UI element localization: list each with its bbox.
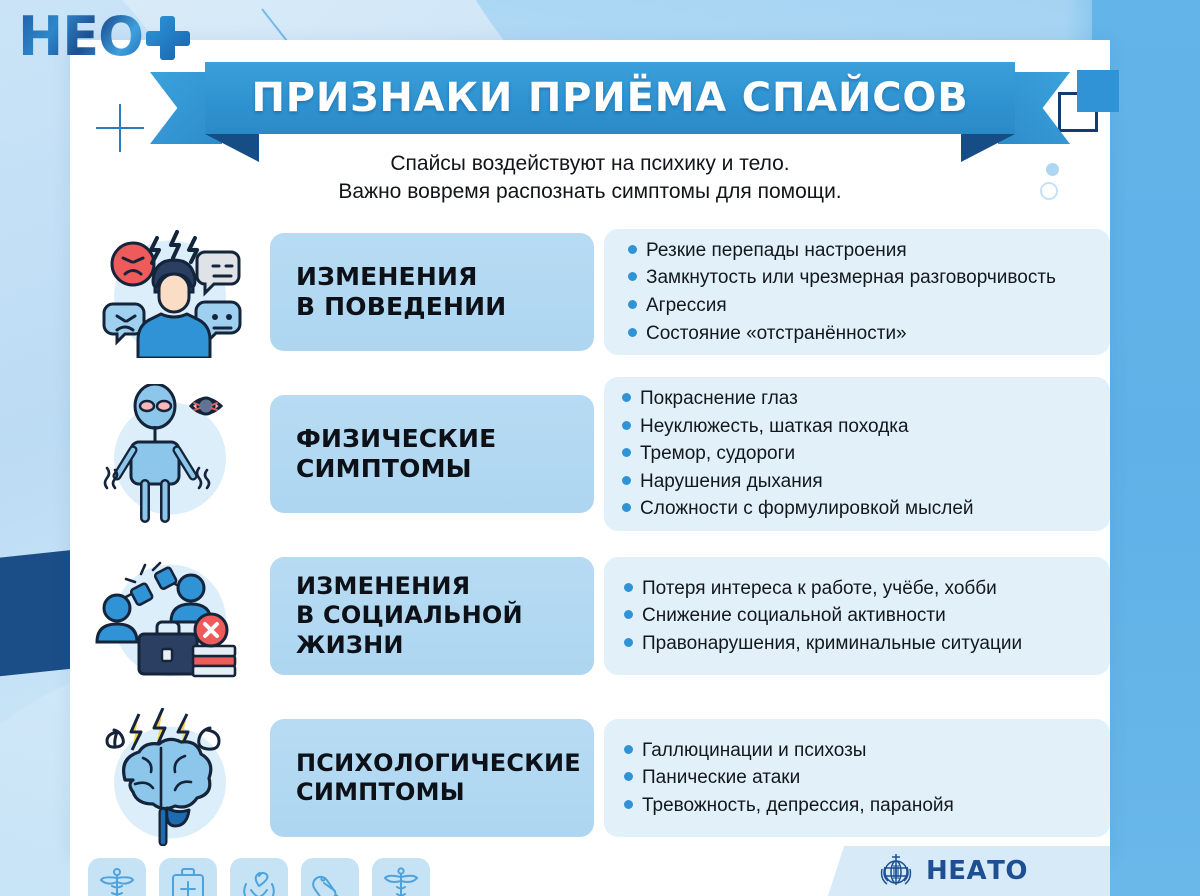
page-title: ПРИЗНАКИ ПРИЁМА СПАЙСОВ	[251, 75, 968, 121]
bullet-text: Потеря интереса к работе, учёбе, хобби	[642, 575, 997, 603]
broken-social-link-briefcase-books-icon	[70, 540, 270, 692]
bullet-dot-icon	[624, 638, 633, 647]
bullet-dot-icon	[628, 300, 637, 309]
bullet-item: Галлюцинации и психозы	[624, 737, 1096, 765]
heart-in-hands-icon	[230, 858, 288, 896]
bullet-dot-icon	[628, 245, 637, 254]
bullet-dot-icon	[624, 745, 633, 754]
bullet-item: Резкие перепады настроения	[628, 237, 1096, 265]
bullet-dot-icon	[628, 272, 637, 281]
bullet-item: Покраснение глаз	[622, 385, 1096, 413]
section-label-box: ИЗМЕНЕНИЯ В СОЦИАЛЬНОЙ ЖИЗНИ	[270, 557, 594, 675]
bullet-dot-icon	[624, 583, 633, 592]
section-bullets: Галлюцинации и психозы Панические атаки …	[604, 719, 1110, 837]
bullet-text: Правонарушения, криминальные ситуации	[642, 630, 1022, 658]
plus-icon	[142, 16, 196, 60]
brand-logo-text: HEO	[18, 10, 143, 64]
section-label-box: ПСИХОЛОГИЧЕСКИЕ СИМПТОМЫ	[270, 719, 594, 837]
first-aid-kit-icon	[159, 858, 217, 896]
bullet-text: Панические атаки	[642, 764, 800, 792]
who-name-label: НЕАТО	[926, 856, 1028, 886]
section-row: ИЗМЕНЕНИЯ В СОЦИАЛЬНОЙ ЖИЗНИ Потеря инте…	[70, 540, 1110, 692]
bullet-dot-icon	[628, 328, 637, 337]
bullet-text: Резкие перепады настроения	[646, 237, 907, 265]
bullet-dot-icon	[622, 503, 631, 512]
section-label-box: ФИЗИЧЕСКИЕ СИМПТОМЫ	[270, 395, 594, 513]
bullet-text: Покраснение глаз	[640, 385, 798, 413]
winged-caduceus-icon	[372, 858, 430, 896]
footer-icon-row	[88, 858, 430, 896]
ribbon-banner: ПРИЗНАКИ ПРИЁМА СПАЙСОВ	[205, 62, 1015, 134]
section-bullets: Резкие перепады настроения Замкнутость и…	[604, 229, 1110, 355]
trembling-person-red-eye-icon	[70, 378, 270, 530]
bullet-item: Сложности с формулировкой мыслей	[622, 495, 1096, 523]
who-logo-block: НЕАТО	[810, 846, 1110, 896]
section-row: ПСИХОЛОГИЧЕСКИЕ СИМПТОМЫ Галлюцинации и …	[70, 702, 1110, 854]
ribbon-fold-left	[205, 134, 259, 162]
bullet-item: Потеря интереса к работе, учёбе, хобби	[624, 575, 1096, 603]
bg-light-square	[0, 56, 74, 142]
section-label: ИЗМЕНЕНИЯ В ПОВЕДЕНИИ	[296, 262, 506, 323]
bullet-text: Неуклюжесть, шаткая походка	[640, 413, 909, 441]
section-label: ФИЗИЧЕСКИЕ СИМПТОМЫ	[296, 424, 496, 485]
angry-person-emoji-faces-icon	[70, 216, 270, 368]
caduceus-icon	[88, 858, 146, 896]
footer: НЕАТО	[70, 846, 1110, 896]
bullet-dot-icon	[622, 448, 631, 457]
bullet-item: Правонарушения, криминальные ситуации	[624, 630, 1096, 658]
bullet-text: Нарушения дыхания	[640, 468, 823, 496]
bullet-item: Снижение социальной активности	[624, 602, 1096, 630]
bullet-item: Тревожность, депрессия, паранойя	[624, 792, 1096, 820]
bullet-text: Сложности с формулировкой мыслей	[640, 495, 974, 523]
bullet-dot-icon	[622, 393, 631, 402]
bullet-dot-icon	[624, 772, 633, 781]
who-emblem-icon	[876, 851, 916, 891]
pill-capsule-icon	[301, 858, 359, 896]
bullet-item: Агрессия	[628, 292, 1096, 320]
bullet-text: Галлюцинации и психозы	[642, 737, 866, 765]
bullet-dot-icon	[624, 610, 633, 619]
section-bullets: Покраснение глаз Неуклюжесть, шаткая пох…	[604, 377, 1110, 531]
bullet-item: Нарушения дыхания	[622, 468, 1096, 496]
bullet-dot-icon	[622, 421, 631, 430]
subtitle-line-2: Важно вовремя распознать симптомы для по…	[70, 178, 1110, 206]
bullet-text: Агрессия	[646, 292, 727, 320]
section-label: ПСИХОЛОГИЧЕСКИЕ СИМПТОМЫ	[296, 749, 581, 808]
subtitle: Спайсы воздействуют на психику и тело. В…	[70, 150, 1110, 205]
bullet-text: Состояние «отстранённости»	[646, 320, 907, 348]
section-row: ИЗМЕНЕНИЯ В ПОВЕДЕНИИ Резкие перепады на…	[70, 216, 1110, 368]
title-ribbon: ПРИЗНАКИ ПРИЁМА СПАЙСОВ	[150, 62, 1070, 158]
section-row: ФИЗИЧЕСКИЕ СИМПТОМЫ Покраснение глаз Неу…	[70, 378, 1110, 530]
section-bullets: Потеря интереса к работе, учёбе, хобби С…	[604, 557, 1110, 675]
decorative-filled-square	[1077, 70, 1119, 112]
bullet-dot-icon	[622, 476, 631, 485]
bullet-text: Тревожность, депрессия, паранойя	[642, 792, 954, 820]
bullet-text: Тремор, судороги	[640, 440, 795, 468]
bullet-item: Тремор, судороги	[622, 440, 1096, 468]
bullet-item: Неуклюжесть, шаткая походка	[622, 413, 1096, 441]
bullet-item: Состояние «отстранённости»	[628, 320, 1096, 348]
bullet-text: Снижение социальной активности	[642, 602, 946, 630]
crosshair-icon	[96, 104, 144, 152]
bullet-item: Замкнутость или чрезмерная разговорчивос…	[628, 264, 1096, 292]
section-label-box: ИЗМЕНЕНИЯ В ПОВЕДЕНИИ	[270, 233, 594, 351]
section-label: ИЗМЕНЕНИЯ В СОЦИАЛЬНОЙ ЖИЗНИ	[296, 572, 523, 660]
brain-lightning-icon	[70, 702, 270, 854]
bullet-text: Замкнутость или чрезмерная разговорчивос…	[646, 264, 1056, 292]
bullet-item: Панические атаки	[624, 764, 1096, 792]
bullet-dot-icon	[624, 800, 633, 809]
sections-list: ИЗМЕНЕНИЯ В ПОВЕДЕНИИ Резкие перепады на…	[70, 216, 1110, 854]
